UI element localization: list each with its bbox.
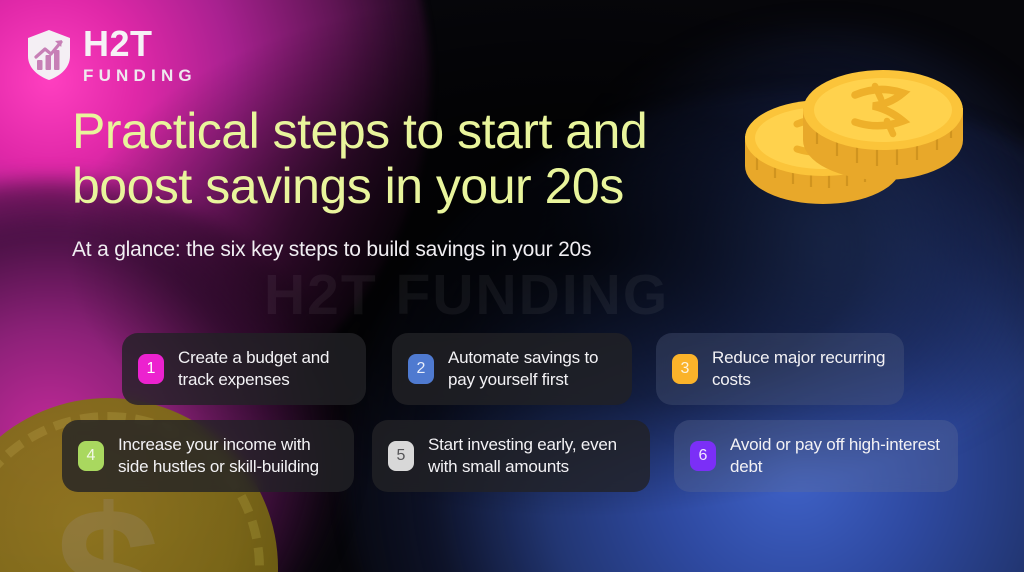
poster-canvas: $ H2T FUNDING bbox=[0, 0, 1024, 572]
brand-wordmark: H2T FUNDING bbox=[83, 26, 197, 84]
step-badge-3: 3 bbox=[672, 354, 698, 384]
page-subtitle: At a glance: the six key steps to build … bbox=[72, 238, 591, 262]
step-card-6[interactable]: 6 Avoid or pay off high-interest debt bbox=[674, 420, 958, 492]
step-badge-4: 4 bbox=[78, 441, 104, 471]
brand-logo[interactable]: H2T FUNDING bbox=[26, 26, 197, 84]
brand-name: H2T bbox=[83, 26, 197, 62]
step-badge-6: 6 bbox=[690, 441, 716, 471]
step-label-5: Start investing early, even with small a… bbox=[428, 434, 632, 478]
step-badge-2: 2 bbox=[408, 354, 434, 384]
step-card-3[interactable]: 3 Reduce major recurring costs bbox=[656, 333, 904, 405]
step-card-2[interactable]: 2 Automate savings to pay yourself first bbox=[392, 333, 632, 405]
page-title: Practical steps to start and boost savin… bbox=[72, 104, 772, 214]
step-card-5[interactable]: 5 Start investing early, even with small… bbox=[372, 420, 650, 492]
step-badge-1: 1 bbox=[138, 354, 164, 384]
brand-watermark: H2T FUNDING bbox=[264, 262, 669, 328]
step-card-4[interactable]: 4 Increase your income with side hustles… bbox=[62, 420, 354, 492]
step-label-3: Reduce major recurring costs bbox=[712, 347, 886, 391]
shield-chart-icon bbox=[26, 29, 72, 81]
step-label-2: Automate savings to pay yourself first bbox=[448, 347, 614, 391]
step-label-6: Avoid or pay off high-interest debt bbox=[730, 434, 940, 478]
title-line-1: Practical steps to start and bbox=[72, 103, 647, 159]
step-badge-5: 5 bbox=[388, 441, 414, 471]
coin-dollar-symbol: $ bbox=[55, 480, 161, 572]
step-card-1[interactable]: 1 Create a budget and track expenses bbox=[122, 333, 366, 405]
step-label-1: Create a budget and track expenses bbox=[178, 347, 348, 391]
title-line-2: boost savings in your 20s bbox=[72, 158, 624, 214]
step-label-4: Increase your income with side hustles o… bbox=[118, 434, 336, 478]
brand-tagline: FUNDING bbox=[83, 67, 197, 84]
